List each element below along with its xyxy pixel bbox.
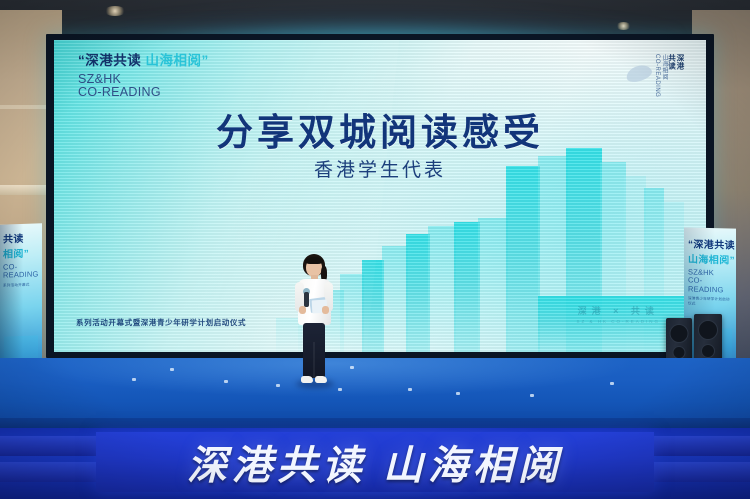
floor-marker [350, 366, 354, 369]
logo-en-line1: SZ&HK [78, 73, 209, 87]
stamp-col-3: 山海相阅 [661, 54, 667, 97]
student-speaker [286, 254, 342, 390]
floor-marker [408, 388, 412, 391]
logo-en-line2: CO-READING [78, 86, 209, 100]
slide-subtitle: 香港学生代表 [54, 155, 706, 182]
photo-scene: “深港共读 山海相阅” SZ&HK CO-READING 深港 共读 山海相阅 … [0, 0, 750, 499]
leaf-icon [624, 62, 653, 84]
right-shoe [315, 376, 327, 383]
banner-step-left [0, 436, 98, 456]
screen-watermark: 深港 × 共读 SZ & HK CO-READING [576, 304, 660, 324]
ceiling-spotlight [104, 6, 126, 16]
floor-marker [456, 392, 460, 395]
stamp-col-1: 深港 [677, 54, 685, 97]
floor-marker [170, 368, 174, 371]
banner-step-left-2 [0, 462, 98, 482]
stamp-vertical-text: 深港 共读 山海相阅 CO-READING [654, 54, 684, 97]
hair-fringe [305, 257, 323, 264]
led-screen: “深港共读 山海相阅” SZ&HK CO-READING 深港 共读 山海相阅 … [54, 40, 706, 352]
logo-english: SZ&HK CO-READING [78, 73, 209, 100]
logo-cn-part1: “深港共读 [78, 53, 141, 68]
stamp-col-2: 共读 [668, 54, 676, 97]
floor-marker [530, 394, 534, 397]
right-hand [322, 306, 329, 314]
logo-cn-part2: 山海相阅” [146, 53, 209, 68]
trouser-seam [313, 342, 315, 378]
bottom-banner-text: 深港共读 山海相阅 [96, 432, 654, 492]
banner-step-right [652, 436, 750, 456]
watermark-english: SZ & HK CO-READING [576, 319, 660, 324]
left-shoe [301, 376, 313, 383]
speaker-cone-small [701, 344, 715, 358]
banner-left: 共读 相阅” CO-READING 系列活动开幕式 [0, 223, 42, 376]
banner-left-shading [0, 223, 42, 376]
slide-title: 分享双城阅读感受 [54, 102, 706, 156]
event-logo: “深港共读 山海相阅” SZ&HK CO-READING [78, 54, 209, 100]
speaker-cone [670, 324, 689, 343]
stamp-col-4: CO-READING [654, 54, 660, 97]
logo-chinese: “深港共读 山海相阅” [78, 54, 209, 68]
banner-step-right-2 [652, 462, 750, 482]
floor-marker [610, 382, 614, 385]
slide-footer-text: 系列活动开幕式暨深港青少年研学计划启动仪式 [76, 317, 246, 328]
ceiling-spotlight [616, 22, 631, 30]
watermark-chinese: 深港 × 共读 [576, 304, 660, 317]
floor-marker [224, 380, 228, 383]
floor-marker [276, 384, 280, 387]
floor-marker [132, 378, 136, 381]
corner-stamp-logo: 深港 共读 山海相阅 CO-READING [624, 52, 684, 104]
speaker-cone [698, 320, 718, 340]
left-hand [299, 306, 306, 314]
